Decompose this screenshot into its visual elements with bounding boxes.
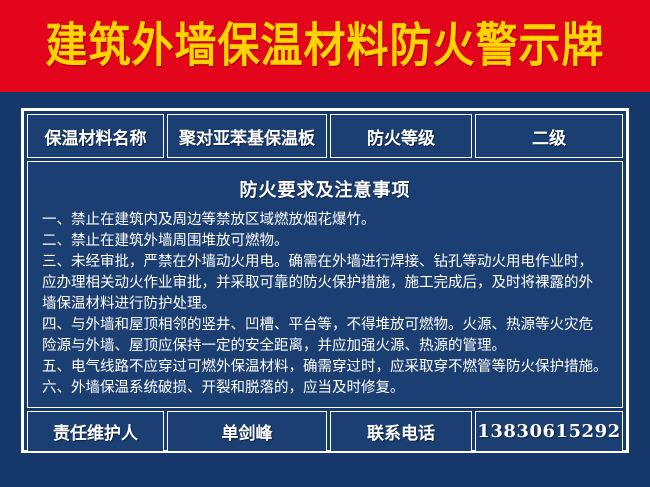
notice-line: 六、外墙保温系统破损、开裂和脱落的，应当及时修复。 xyxy=(42,378,612,399)
notice-heading: 防火要求及注意事项 xyxy=(38,176,612,202)
notice-body: 一、禁止在建筑内及周边等禁放区域燃放烟花爆竹。 二、禁止在建筑外墙周围堆放可燃物… xyxy=(38,210,612,399)
notice-line: 墙保温材料进行防护处理。 xyxy=(42,294,612,315)
notice-line: 五、电气线路不应穿过可燃外保温材料，确需穿过时，应采取穿不燃管等防火保护措施。 xyxy=(42,357,612,378)
fire-safety-warning-sign: 建筑外墙保温材料防火警示牌 保温材料名称 聚对亚苯基保温板 防火等级 二级 防火… xyxy=(0,0,650,487)
notice-line: 二、禁止在建筑外墙周围堆放可燃物。 xyxy=(42,231,612,252)
responsible-person-label: 责任维护人 xyxy=(27,411,164,452)
notice-line: 四、与外墙和屋顶相邻的竖井、凹槽、平台等，不得堆放可燃物。火源、热源等火灾危 xyxy=(42,315,612,336)
title-banner: 建筑外墙保温材料防火警示牌 xyxy=(0,0,650,92)
contact-phone-value: 13830615292 xyxy=(475,411,623,452)
table-row-material: 保温材料名称 聚对亚苯基保温板 防火等级 二级 xyxy=(27,114,623,158)
fire-grade-value: 二级 xyxy=(475,114,623,158)
info-table: 保温材料名称 聚对亚苯基保温板 防火等级 二级 防火要求及注意事项 一、禁止在建… xyxy=(21,108,629,453)
sign-title: 建筑外墙保温材料防火警示牌 xyxy=(45,22,604,69)
contact-phone-label: 联系电话 xyxy=(330,411,472,452)
sign-board: 保温材料名称 聚对亚苯基保温板 防火等级 二级 防火要求及注意事项 一、禁止在建… xyxy=(0,92,650,487)
table-row-contact: 责任维护人 单剑峰 联系电话 13830615292 xyxy=(27,411,623,452)
material-name-value: 聚对亚苯基保温板 xyxy=(167,114,327,158)
responsible-person-value: 单剑峰 xyxy=(167,411,327,452)
material-name-label: 保温材料名称 xyxy=(27,114,164,158)
notice-line: 三、未经审批，严禁在外墙动火用电。确需在外墙进行焊接、钻孔等动火用电作业时， xyxy=(42,252,612,273)
notice-line: 一、禁止在建筑内及周边等禁放区域燃放烟花爆竹。 xyxy=(42,210,612,231)
notice-line: 险源与外墙、屋顶应保持一定的安全距离，并应加强火源、热源的管理。 xyxy=(42,336,612,357)
notice-line: 应办理相关动火作业审批，并采取可靠的防火保护措施，施工完成后，及时将裸露的外 xyxy=(42,273,612,294)
fire-grade-label: 防火等级 xyxy=(330,114,472,158)
notice-cell: 防火要求及注意事项 一、禁止在建筑内及周边等禁放区域燃放烟花爆竹。 二、禁止在建… xyxy=(27,161,623,408)
